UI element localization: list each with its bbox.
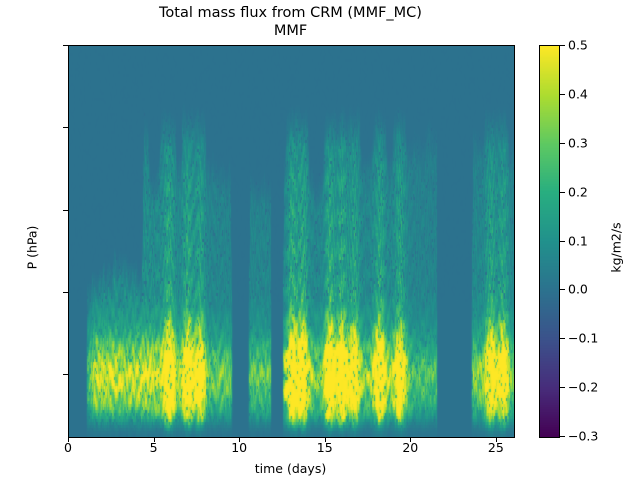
x-tick-label: 5: [150, 440, 158, 455]
colorbar-label: kg/m2/s: [609, 188, 624, 308]
colorbar-tick-mark: [560, 94, 565, 95]
y-tick-mark: [63, 210, 68, 211]
y-tick-mark: [63, 45, 68, 46]
plot-axes: [68, 45, 515, 438]
colorbar-tick-mark: [560, 338, 565, 339]
colorbar-tick-label: 0.1: [568, 233, 588, 248]
figure-subtitle: MMF: [0, 22, 581, 40]
mass-flux-heatmap: [69, 46, 514, 437]
figure-canvas: Total mass flux from CRM (MMF_MC) MMF P …: [0, 0, 629, 489]
colorbar-tick-label: −0.2: [568, 380, 598, 395]
colorbar-tick-label: −0.3: [568, 429, 598, 444]
colorbar-tick-mark: [560, 45, 565, 46]
colorbar-tick-mark: [560, 436, 565, 437]
colorbar-tick-mark: [560, 143, 565, 144]
colorbar-tick-label: 0.2: [568, 184, 588, 199]
colorbar: [539, 45, 560, 438]
colorbar-tick-label: 0.4: [568, 86, 588, 101]
colorbar-tick-label: 0.3: [568, 135, 588, 150]
colorbar-tick-mark: [560, 241, 565, 242]
colorbar-tick-mark: [560, 289, 565, 290]
x-tick-label: 0: [64, 440, 72, 455]
colorbar-gradient: [540, 46, 559, 437]
figure-title-block: Total mass flux from CRM (MMF_MC) MMF: [0, 4, 581, 40]
colorbar-tick-mark: [560, 192, 565, 193]
y-tick-mark: [63, 374, 68, 375]
y-tick-mark: [63, 127, 68, 128]
x-axis-label: time (days): [68, 461, 513, 476]
x-tick-label: 20: [402, 440, 418, 455]
y-axis-label: P (hPa): [25, 188, 40, 308]
x-tick-label: 15: [317, 440, 333, 455]
colorbar-tick-label: 0.5: [568, 38, 588, 53]
x-tick-label: 10: [231, 440, 247, 455]
colorbar-tick-label: 0.0: [568, 282, 588, 297]
y-tick-mark: [63, 292, 68, 293]
figure-title: Total mass flux from CRM (MMF_MC): [0, 4, 581, 22]
x-tick-label: 25: [488, 440, 504, 455]
colorbar-tick-label: −0.1: [568, 331, 598, 346]
colorbar-tick-mark: [560, 387, 565, 388]
